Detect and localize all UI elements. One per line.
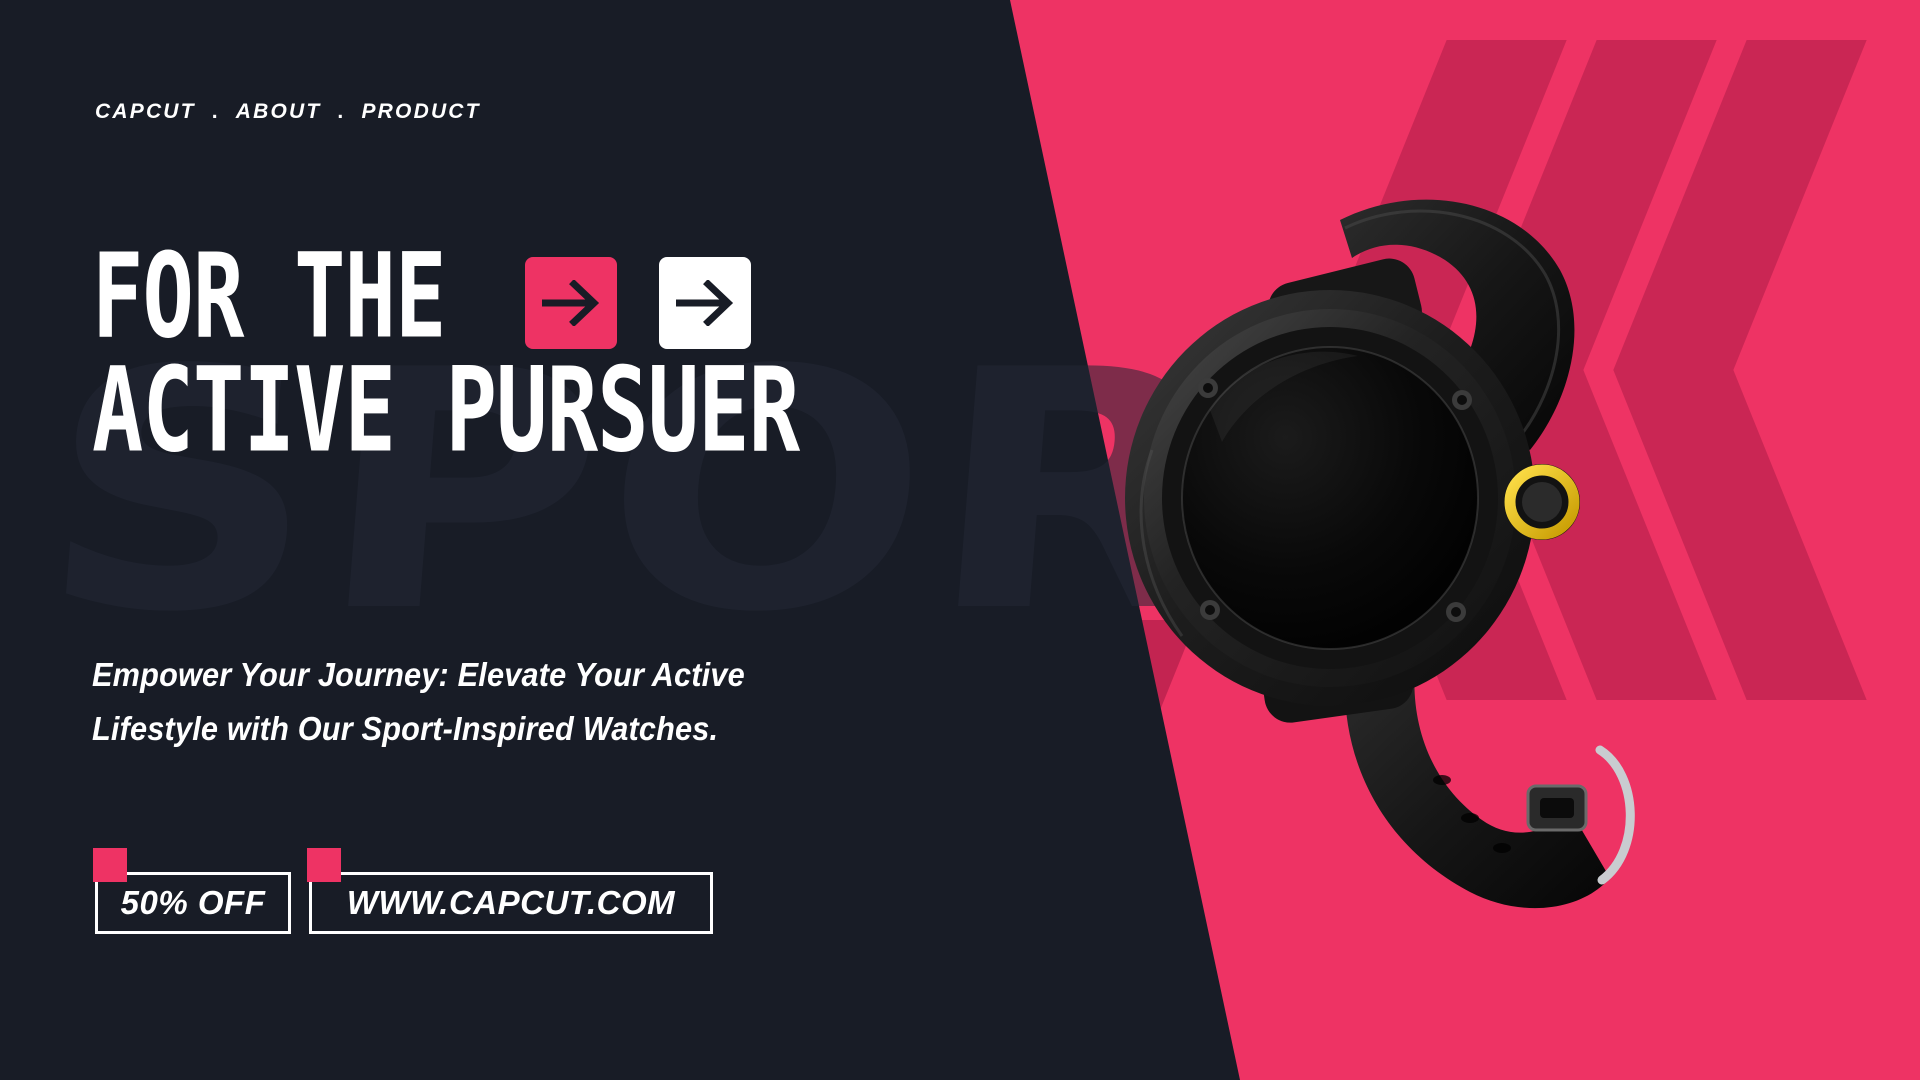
nav-item-product[interactable]: PRODUCT [361, 100, 480, 124]
hero-headline: FOR THE ACTIVE PURSUER [92, 248, 955, 458]
nav-separator: . [196, 100, 236, 124]
hero-subtitle: Empower Your Journey: Elevate Your Activ… [92, 648, 799, 756]
arrow-right-icon [542, 280, 600, 326]
badge-corner-square [93, 848, 127, 882]
headline-line-1: FOR THE [92, 242, 446, 350]
discount-badge[interactable]: 50% OFF [95, 872, 291, 934]
headline-line-2: ACTIVE PURSUER [92, 356, 799, 464]
nav-item-about[interactable]: ABOUT [236, 100, 322, 124]
arrow-button-primary[interactable] [525, 257, 617, 349]
nav-separator: . [321, 100, 361, 124]
nav-item-capcut[interactable]: CAPCUT [95, 100, 196, 124]
website-badge[interactable]: WWW.CAPCUT.COM [309, 872, 713, 934]
cta-badge-row: 50% OFF WWW.CAPCUT.COM [95, 872, 713, 934]
top-navigation: CAPCUT . ABOUT . PRODUCT [95, 100, 481, 124]
website-badge-label: WWW.CAPCUT.COM [309, 872, 713, 934]
cta-arrow-group [525, 257, 751, 349]
arrow-right-icon [676, 280, 734, 326]
badge-corner-square [307, 848, 341, 882]
arrow-button-secondary[interactable] [659, 257, 751, 349]
